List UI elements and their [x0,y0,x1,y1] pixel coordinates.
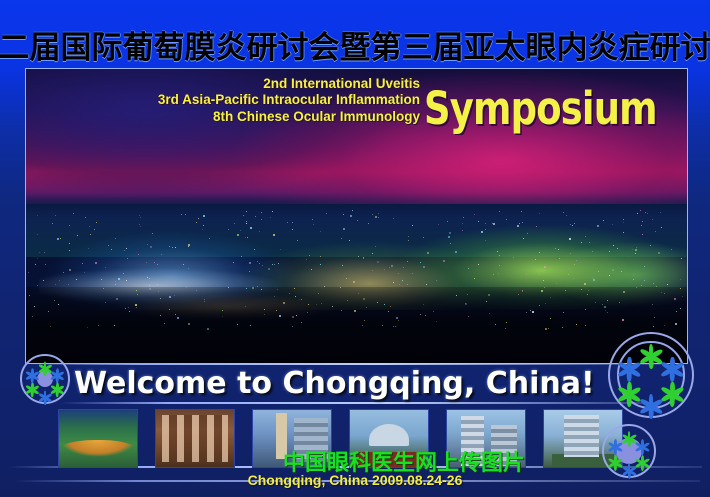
subtitle-english-block: 2nd International Uveitis 3rd Asia-Pacif… [150,76,420,125]
welcome-heading: Welcome to Chongqing, China! [74,366,595,401]
symposium-wordmark: Symposium [424,82,657,135]
divider-line-top [28,363,668,365]
subtitle-line-2: 3rd Asia-Pacific Intraocular Inflammatio… [150,92,420,108]
flower-ring-emblem-left [20,354,70,404]
conference-poster: 第二届国际葡萄膜炎研讨会暨第三届亚太眼内炎症研讨会 2nd Internatio… [0,0,710,497]
foreground-shadow [26,287,687,363]
flower-ring-emblem-bottom [602,424,656,478]
subtitle-line-3: 8th Chinese Ocular Immunology [150,109,420,125]
thumbnail-karst-valley [58,409,138,468]
date-location-line: Chongqing, China 2009.08.24-26 [0,472,710,488]
flower-ring-emblem-right [608,332,694,418]
thumbnail-rock-carvings [155,409,235,468]
divider-line-welcome [60,402,660,404]
page-title-chinese: 第二届国际葡萄膜炎研讨会暨第三届亚太眼内炎症研讨会 [0,22,710,66]
subtitle-line-1: 2nd International Uveitis [150,76,420,92]
